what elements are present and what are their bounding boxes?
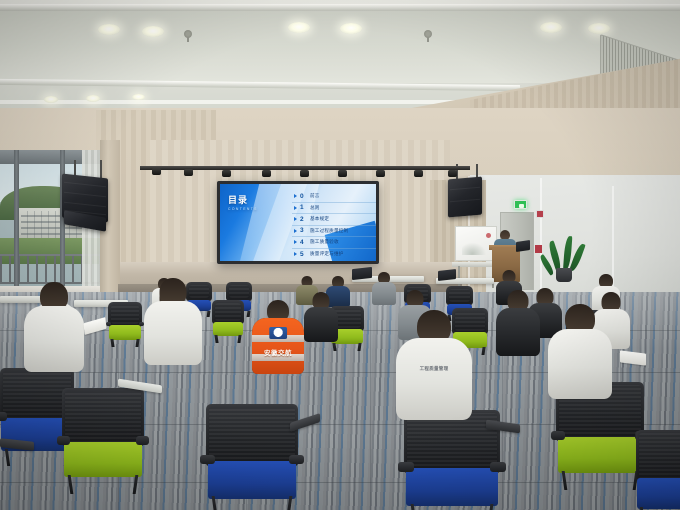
chair-leg bbox=[110, 339, 114, 347]
chair-seat bbox=[213, 322, 244, 336]
chair[interactable] bbox=[108, 302, 142, 346]
chair-seat bbox=[109, 325, 142, 340]
bullet-marker-icon bbox=[294, 194, 297, 198]
bullet-marker-icon bbox=[294, 217, 297, 221]
spotlight bbox=[262, 170, 271, 177]
chair-leg bbox=[332, 343, 336, 351]
chair-leg bbox=[482, 347, 486, 355]
ceiling-recess bbox=[0, 11, 680, 83]
attendee bbox=[24, 282, 84, 370]
chair-back bbox=[446, 286, 473, 305]
exit-sign-icon bbox=[514, 200, 527, 209]
ceiling-downlight bbox=[44, 96, 58, 103]
attendee-torso bbox=[24, 306, 84, 372]
chair-seat bbox=[64, 442, 143, 477]
toc-item: 0 前言 bbox=[292, 191, 376, 203]
attendee bbox=[372, 272, 396, 304]
toc-label: 质量评定与维护 bbox=[310, 251, 344, 257]
chair-leg bbox=[214, 335, 218, 343]
ceiling-downlight bbox=[340, 23, 362, 34]
chair-arm bbox=[57, 436, 70, 445]
toc-item: 4 施工质量验收 bbox=[292, 237, 376, 249]
spotlight bbox=[414, 170, 423, 177]
ceiling-downlight bbox=[540, 22, 562, 33]
attendee bbox=[548, 304, 612, 396]
ceiling-downlight bbox=[288, 22, 310, 33]
laptop[interactable] bbox=[438, 269, 456, 281]
chair-seat bbox=[558, 437, 642, 473]
bullet-marker-icon bbox=[294, 206, 297, 210]
line-array-speaker bbox=[448, 177, 482, 218]
whiteboard-art bbox=[462, 241, 488, 255]
whiteboard bbox=[455, 226, 497, 261]
attendee-torso bbox=[144, 301, 202, 365]
company-logo-icon bbox=[269, 327, 287, 339]
ceiling-downlight bbox=[142, 26, 164, 37]
attendee-in-safety-vest: 安徽交航 bbox=[252, 300, 304, 374]
chair[interactable] bbox=[636, 430, 680, 510]
toc-number: 0 bbox=[300, 193, 307, 200]
ceiling-downlight bbox=[98, 24, 120, 35]
conference-room-photo: 目录 CONTENTS 0 前言 1 总则 2 基本规定 bbox=[0, 0, 680, 510]
bullet-marker-icon bbox=[294, 252, 297, 256]
ceiling-downlight bbox=[588, 23, 610, 34]
sprinkler-head bbox=[184, 30, 192, 38]
spotlight bbox=[448, 170, 457, 177]
safety-vest: 安徽交航 bbox=[252, 318, 304, 374]
chair-arm bbox=[551, 431, 565, 441]
chair-back bbox=[226, 282, 252, 301]
attendee-torso bbox=[304, 307, 338, 342]
chair-leg bbox=[67, 475, 73, 494]
chair-seat bbox=[637, 478, 680, 509]
slide-canvas: 目录 CONTENTS 0 前言 1 总则 2 基本规定 bbox=[220, 184, 376, 261]
plant-pot bbox=[556, 268, 572, 282]
chair-leg bbox=[358, 343, 362, 351]
chair-back bbox=[108, 302, 142, 327]
ceiling-downlight bbox=[86, 95, 100, 102]
window-mullion bbox=[14, 150, 19, 300]
bullet-marker-icon bbox=[294, 229, 297, 233]
presentation-screen[interactable]: 目录 CONTENTS 0 前言 1 总则 2 基本规定 bbox=[217, 181, 379, 264]
spotlight bbox=[222, 170, 231, 177]
spotlight bbox=[152, 168, 161, 175]
podium-laptop bbox=[516, 240, 530, 252]
table-leg bbox=[458, 266, 460, 288]
ceiling-beam bbox=[0, 100, 470, 104]
attendee bbox=[304, 292, 338, 340]
fire-alarm-icon bbox=[536, 210, 544, 218]
toc-item: 5 质量评定与维护 bbox=[292, 249, 376, 261]
chair-arm bbox=[289, 455, 304, 465]
toc-label: 前言 bbox=[310, 193, 320, 199]
attendee bbox=[144, 278, 202, 364]
chair-back bbox=[212, 300, 244, 324]
toc-label: 施工质量验收 bbox=[310, 239, 339, 245]
fire-alarm-icon bbox=[535, 245, 542, 253]
attendee-torso: 工程质量管理 bbox=[396, 338, 472, 420]
attendee-torso bbox=[372, 282, 396, 305]
slide-heading-cn: 目录 bbox=[228, 196, 258, 205]
ceiling-downlight bbox=[132, 94, 145, 100]
toc-item: 1 总则 bbox=[292, 203, 376, 215]
spotlight bbox=[376, 170, 385, 177]
chair-leg bbox=[238, 335, 242, 343]
toc-number: 3 bbox=[300, 227, 307, 234]
chair-arm bbox=[136, 436, 149, 445]
tshirt-print-text: 工程质量管理 bbox=[407, 366, 462, 372]
chair-arm bbox=[398, 462, 413, 472]
attendee bbox=[496, 290, 540, 354]
attendee-torso: 安徽交航 bbox=[252, 318, 304, 374]
bullet-marker-icon bbox=[294, 240, 297, 244]
chair-back bbox=[636, 430, 680, 482]
toc-item: 3 施工过程质量控制 bbox=[292, 226, 376, 238]
chair[interactable] bbox=[212, 300, 244, 342]
vest-org-text: 安徽交航 bbox=[252, 347, 304, 357]
chair-back bbox=[206, 404, 298, 466]
toc-number: 2 bbox=[300, 216, 307, 223]
window-mullion bbox=[60, 150, 65, 300]
toc-number: 1 bbox=[300, 204, 307, 211]
chair-back bbox=[62, 388, 144, 446]
chair-leg bbox=[5, 449, 10, 466]
toc-number: 5 bbox=[300, 251, 307, 258]
toc-number: 4 bbox=[300, 239, 307, 246]
chair-arm bbox=[490, 462, 505, 472]
toc-label: 基本规定 bbox=[310, 216, 329, 222]
chair-leg bbox=[136, 339, 140, 347]
toc-item: 2 基本规定 bbox=[292, 214, 376, 226]
ceiling-beam bbox=[0, 4, 680, 11]
slide-heading-en: CONTENTS bbox=[228, 207, 258, 211]
chair[interactable] bbox=[206, 404, 298, 510]
spotlight bbox=[338, 170, 347, 177]
sprinkler-head bbox=[424, 30, 432, 38]
laptop[interactable] bbox=[352, 267, 372, 280]
spotlight bbox=[300, 170, 309, 177]
chair-seat bbox=[406, 468, 498, 506]
chair-leg bbox=[206, 311, 210, 317]
attendee: 工程质量管理 bbox=[396, 310, 472, 418]
slide-toc-list: 0 前言 1 总则 2 基本规定 3 施工过程质量控制 bbox=[292, 191, 376, 260]
chair-leg bbox=[133, 475, 139, 494]
chair-arm bbox=[0, 412, 7, 421]
chair-arm bbox=[200, 455, 215, 465]
chair-seat bbox=[208, 461, 296, 498]
slide-heading: 目录 CONTENTS bbox=[228, 196, 258, 211]
whiteboard-seal bbox=[486, 233, 491, 238]
toc-label: 总则 bbox=[310, 205, 320, 211]
chair-leg bbox=[562, 471, 568, 490]
spotlight bbox=[184, 169, 193, 176]
toc-label: 施工过程质量控制 bbox=[310, 228, 348, 234]
attendee-torso bbox=[548, 329, 612, 399]
chair-leg bbox=[246, 311, 250, 317]
chair[interactable] bbox=[62, 388, 144, 492]
attendee-torso bbox=[496, 308, 540, 356]
